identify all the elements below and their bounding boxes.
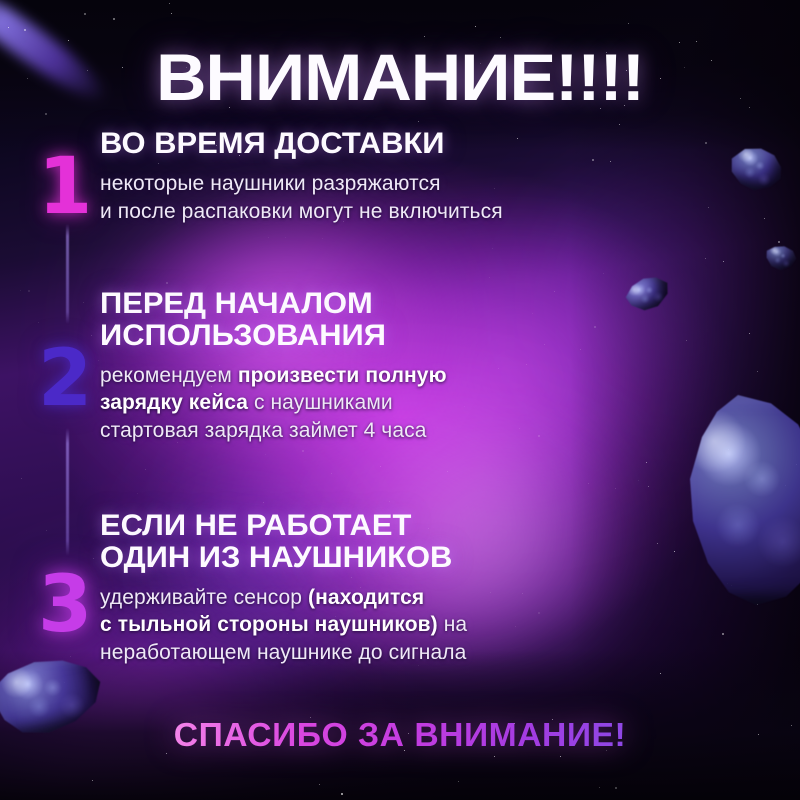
poster-content: ВНИМАНИЕ!!!! 1 2 3 ВО ВРЕМЯ ДОСТАВКИ нек… xyxy=(0,0,800,800)
step-body-line: зарядку кейса с наушниками xyxy=(100,389,447,417)
step-body-line: некоторые наушники разряжаются xyxy=(100,170,503,198)
page-title: ВНИМАНИЕ!!!! xyxy=(0,44,800,110)
step-connector-rail xyxy=(66,428,69,556)
step-heading: ВО ВРЕМЯ ДОСТАВКИ xyxy=(100,128,515,160)
step-number-1: 1 xyxy=(38,148,90,226)
step-body-line: и после распаковки могут не включиться xyxy=(100,198,503,226)
step-heading-line-1: ПЕРЕД НАЧАЛОМ xyxy=(100,288,457,320)
step-heading-line-2: ИСПОЛЬЗОВАНИЯ xyxy=(100,320,457,352)
step-body-line: неработающем наушнике до сигнала xyxy=(100,639,467,667)
step-body: некоторые наушники разряжаются и после р… xyxy=(100,170,503,225)
step-heading-line-2: ОДИН ИЗ НАУШНИКОВ xyxy=(100,542,478,574)
step-number-3: 3 xyxy=(38,566,90,644)
step-heading-line-1: ЕСЛИ НЕ РАБОТАЕТ xyxy=(100,510,478,542)
step-body-line: рекомендуем произвести полную xyxy=(100,362,447,390)
step-body: рекомендуем произвести полную зарядку ке… xyxy=(100,362,447,445)
step-body-line: с тыльной стороны наушников) на xyxy=(100,611,467,639)
footer-thanks: СПАСИБО ЗА ВНИМАНИЕ! xyxy=(0,718,800,751)
step-block-3: ЕСЛИ НЕ РАБОТАЕТ ОДИН ИЗ НАУШНИКОВ удерж… xyxy=(100,510,467,667)
step-connector-rail xyxy=(66,224,69,324)
step-block-1: ВО ВРЕМЯ ДОСТАВКИ некоторые наушники раз… xyxy=(100,128,503,225)
step-body-line: удерживайте сенсор (находится xyxy=(100,584,467,612)
step-body-line: стартовая зарядка займет 4 часа xyxy=(100,417,447,445)
step-number-2: 2 xyxy=(38,340,90,418)
step-body: удерживайте сенсор (находится с тыльной … xyxy=(100,584,467,667)
instruction-poster: ВНИМАНИЕ!!!! 1 2 3 ВО ВРЕМЯ ДОСТАВКИ нек… xyxy=(0,0,800,800)
step-block-2: ПЕРЕД НАЧАЛОМ ИСПОЛЬЗОВАНИЯ рекомендуем … xyxy=(100,288,447,445)
